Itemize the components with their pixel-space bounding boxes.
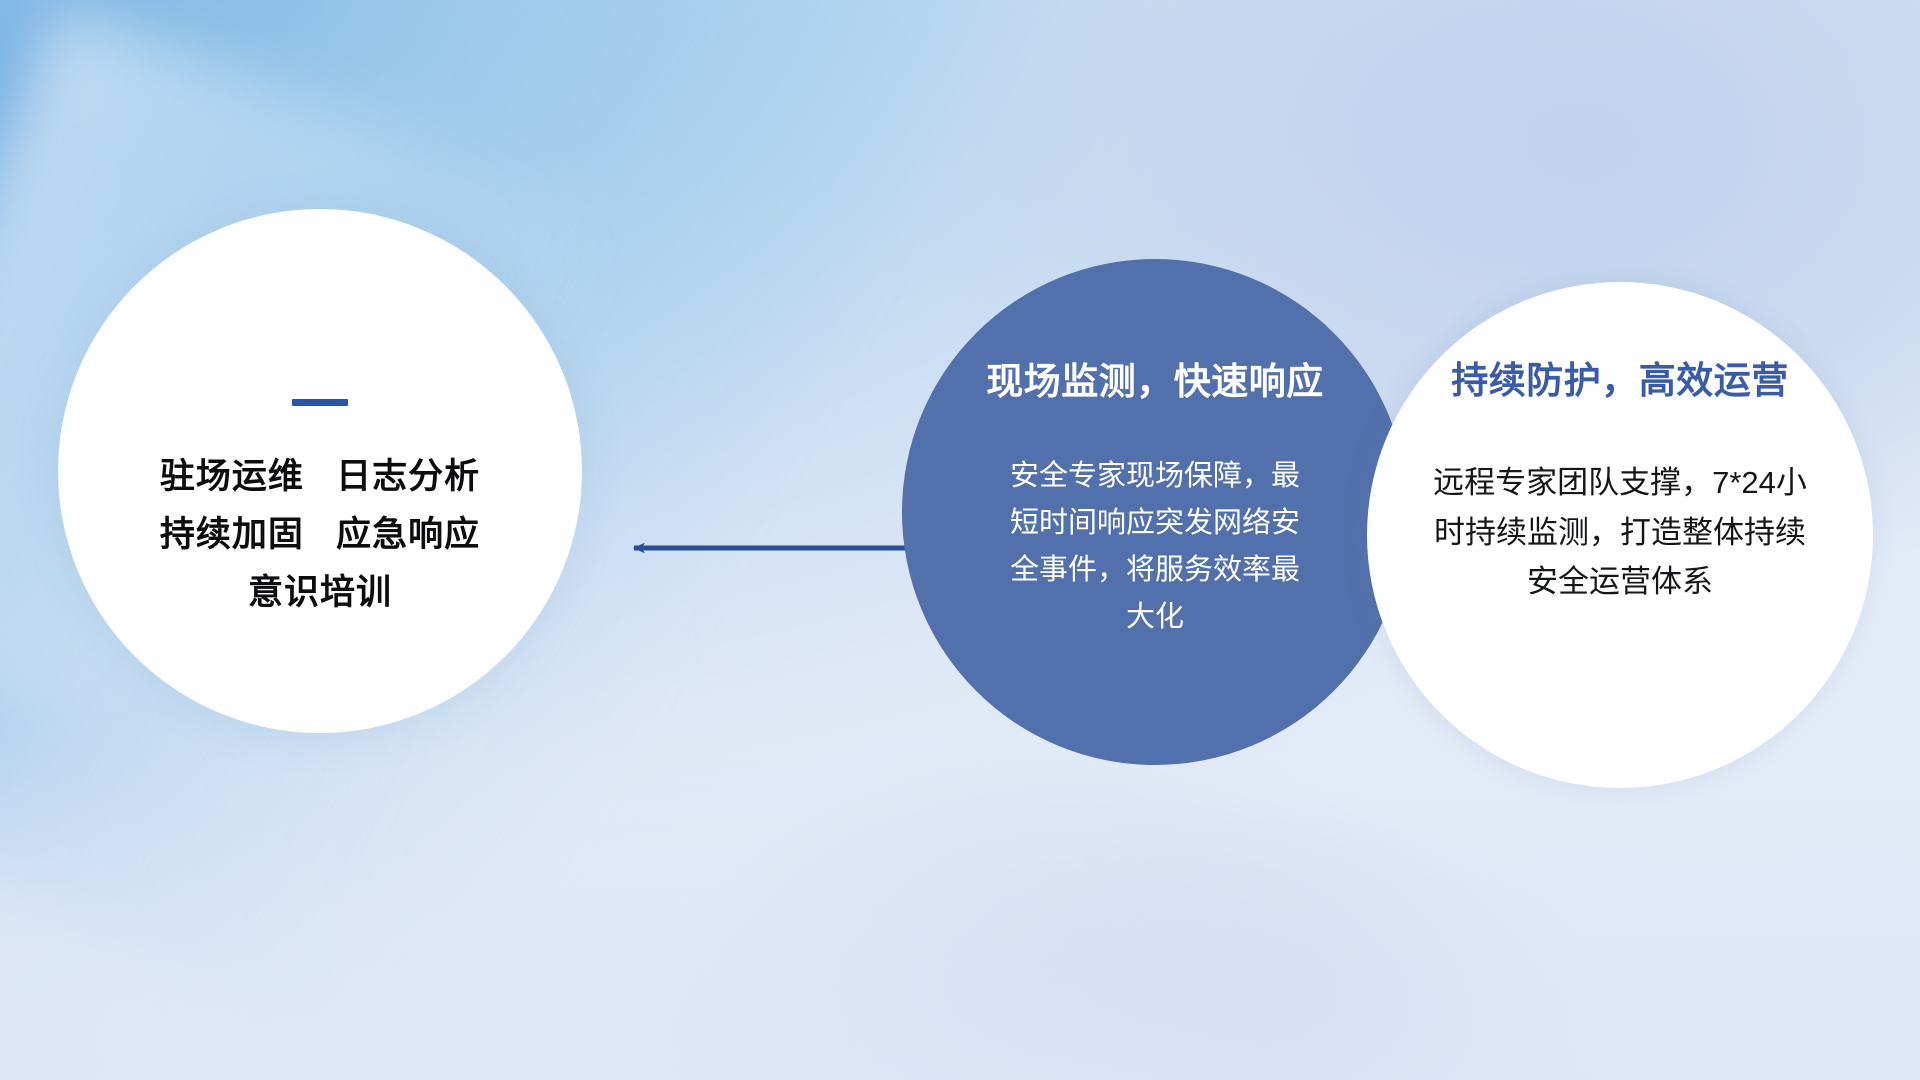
capability-line-2: 持续加固 应急响应 <box>160 506 480 564</box>
capability-line-3: 意识培训 <box>160 564 480 622</box>
service-circle-right: 持续防护，高效运营 远程专家团队支撑，7*24小时持续监测，打造整体持续安全运营… <box>1367 282 1873 788</box>
capability-circle-left: 驻场运维 日志分析 持续加固 应急响应 意识培训 <box>58 209 582 733</box>
capability-line-1: 驻场运维 日志分析 <box>160 448 480 506</box>
right-circle-title: 持续防护，高效运营 <box>1451 350 1789 404</box>
right-circle-body: 远程专家团队支撑，7*24小时持续监测，打造整体持续安全运营体系 <box>1424 458 1816 607</box>
service-circle-middle: 现场监测，快速响应 安全专家现场保障，最短时间响应突发网络安全事件，将服务效率最… <box>902 259 1408 765</box>
capability-list: 驻场运维 日志分析 持续加固 应急响应 意识培训 <box>160 448 480 622</box>
middle-circle-title: 现场监测，快速响应 <box>986 351 1324 405</box>
divider-dash <box>292 399 348 406</box>
middle-circle-body: 安全专家现场保障，最短时间响应突发网络安全事件，将服务效率最大化 <box>1005 453 1305 641</box>
